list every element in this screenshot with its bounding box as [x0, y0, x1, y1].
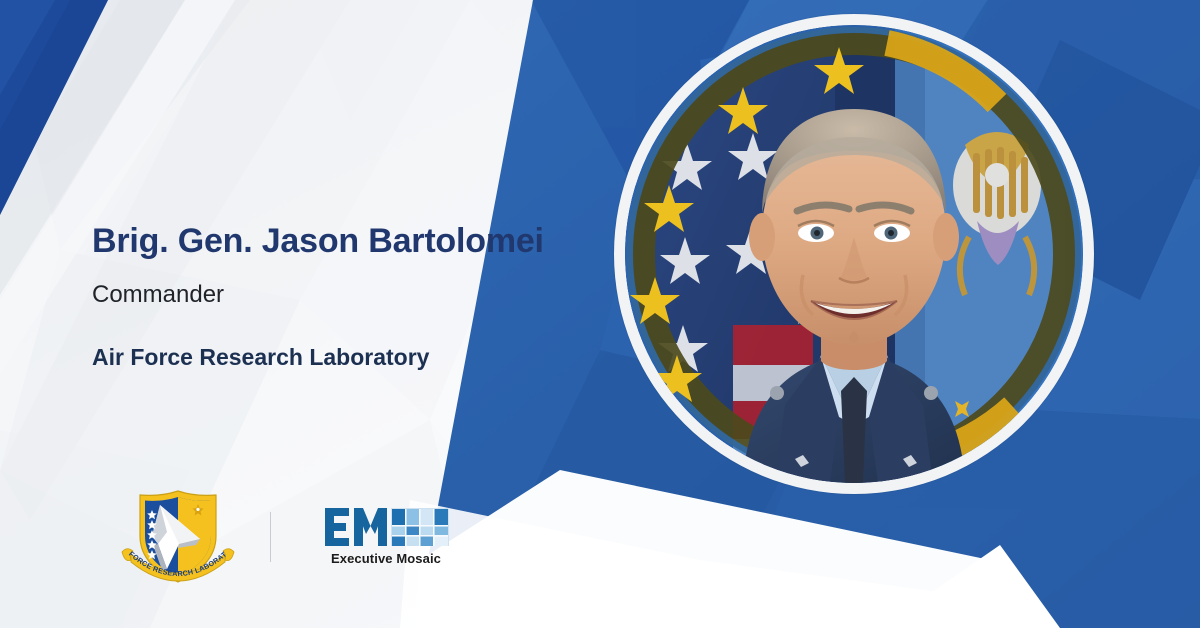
mosaic-grid [391, 508, 449, 546]
portrait-container [614, 14, 1094, 494]
logo-row: AIR FORCE RESEARCH LABORATORY [112, 484, 451, 589]
profile-text-block: Brig. Gen. Jason Bartolomei Commander Ai… [92, 222, 562, 371]
person-name: Brig. Gen. Jason Bartolomei [92, 222, 562, 261]
person-organization: Air Force Research Laboratory [92, 344, 562, 372]
logo-divider [270, 512, 271, 562]
person-title: Commander [92, 281, 562, 310]
executive-mosaic-logo-icon: Executive Mosaic [323, 506, 451, 568]
executive-mosaic-wordmark: Executive Mosaic [331, 551, 441, 566]
portrait-clip [625, 25, 1083, 483]
em-monogram [325, 508, 387, 546]
profile-banner-card: Brig. Gen. Jason Bartolomei Commander Ai… [0, 0, 1200, 628]
air-force-research-laboratory-seal-icon: AIR FORCE RESEARCH LABORATORY [112, 484, 244, 589]
official-portrait-image [625, 25, 1083, 483]
